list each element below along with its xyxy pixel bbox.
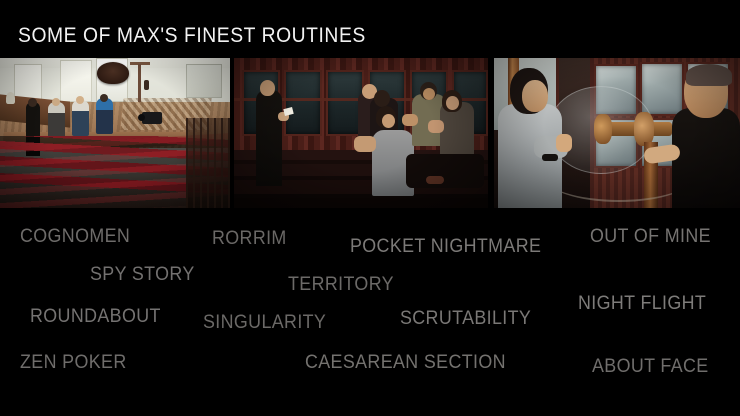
scene-card-trick: [234, 58, 488, 208]
routine-name[interactable]: ROUNDABOUT: [30, 306, 161, 328]
routine-name[interactable]: SINGULARITY: [203, 312, 326, 334]
gallery-image-card-trick[interactable]: [234, 58, 488, 208]
routine-name[interactable]: ABOUT FACE: [592, 356, 709, 378]
page-title: SOME OF MAX'S FINEST ROUTINES: [18, 24, 366, 48]
scene-lecture-theatre: [0, 58, 230, 208]
routine-name[interactable]: SCRUTABILITY: [400, 308, 531, 330]
routine-name[interactable]: OUT OF MINE: [590, 226, 711, 248]
panel-vignette: [494, 58, 740, 208]
panel-vignette: [0, 58, 230, 208]
routine-name[interactable]: CAESAREAN SECTION: [305, 352, 506, 374]
routine-name[interactable]: ZEN POKER: [20, 352, 127, 374]
routine-name[interactable]: RORRIM: [212, 228, 287, 250]
gallery-image-lecture-theatre[interactable]: [0, 58, 230, 208]
gallery-image-apparatus-room[interactable]: [494, 58, 740, 208]
routine-name[interactable]: SPY STORY: [90, 264, 195, 286]
image-gallery-strip: [0, 58, 740, 208]
routine-name[interactable]: POCKET NIGHTMARE: [350, 236, 541, 258]
slide-root: SOME OF MAX'S FINEST ROUTINES: [0, 0, 740, 416]
routine-name-cloud: COGNOMENRORRIMPOCKET NIGHTMAREOUT OF MIN…: [0, 208, 740, 416]
routine-name[interactable]: NIGHT FLIGHT: [578, 293, 706, 315]
panel-vignette: [234, 58, 488, 208]
scene-apparatus-room: [494, 58, 740, 208]
routine-name[interactable]: COGNOMEN: [20, 226, 130, 248]
routine-name[interactable]: TERRITORY: [288, 274, 394, 296]
